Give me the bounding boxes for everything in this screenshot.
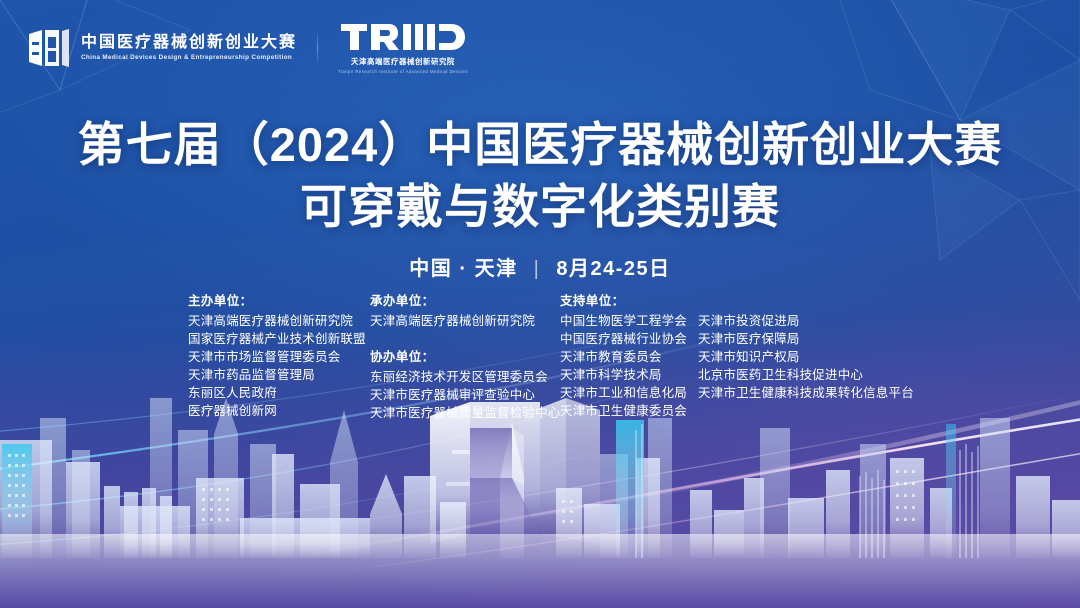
primary-logo-name-en: China Medical Devices Design & Entrepren… xyxy=(81,54,301,62)
supporter-item: 天津市科学技术局 xyxy=(560,366,688,384)
supporter-item: 天津市工业和信息化局 xyxy=(560,384,688,402)
host-item: 天津市药品监督管理局 xyxy=(188,366,370,384)
supporter-item: 天津市教育委员会 xyxy=(560,348,688,366)
coorganizer-item: 天津市医疗器械审评查验中心 xyxy=(370,386,560,404)
host-item: 天津市市场监督管理委员会 xyxy=(188,348,370,366)
host-item: 国家医疗器械产业技术创新联盟 xyxy=(188,330,370,348)
heading-spacer xyxy=(698,292,898,312)
title-line-2: 可穿戴与数字化类别赛 xyxy=(0,176,1080,238)
supporter-item: 中国生物医学工程学会 xyxy=(560,312,688,330)
supporter-item: 天津市卫生健康委员会 xyxy=(560,402,688,420)
host-heading: 主办单位： xyxy=(188,292,370,310)
organizer-item: 天津高端医疗器械创新研究院 xyxy=(370,312,560,330)
supporter-item: 天津市投资促进局 xyxy=(698,312,898,330)
coorganizer-item: 东丽经济技术开发区管理委员会 xyxy=(370,368,560,386)
organizers-section: 主办单位： 天津高端医疗器械创新研究院 国家医疗器械产业技术创新联盟 天津市市场… xyxy=(188,292,898,422)
primary-logo-text: 中国医疗器械创新创业大赛 China Medical Devices Desig… xyxy=(81,34,297,62)
coorganizer-heading: 协办单位： xyxy=(370,348,560,366)
supporters-heading: 支持单位： xyxy=(560,292,688,310)
column-gap xyxy=(370,330,560,348)
supporters-column: 支持单位： 中国生物医学工程学会 中国医疗器械行业协会 天津市教育委员会 天津市… xyxy=(560,292,898,420)
open-door-window-logo-icon xyxy=(26,25,72,71)
supporter-item: 天津市卫生健康科技成果转化信息平台 xyxy=(698,384,898,402)
supporter-item: 天津市医疗保障局 xyxy=(698,330,898,348)
supporter-item: 中国医疗器械行业协会 xyxy=(560,330,688,348)
logo-divider xyxy=(317,31,318,65)
supporter-item: 天津市知识产权局 xyxy=(698,348,898,366)
secondary-logo-name-cn: 天津高端医疗器械创新研究院 xyxy=(351,56,455,67)
event-separator: | xyxy=(534,258,541,281)
organizer-heading: 承办单位： xyxy=(370,292,560,310)
secondary-logo: 天津高端医疗器械创新研究院 Tianjin Research Institute… xyxy=(338,22,468,74)
conference-banner: 中国医疗器械创新创业大赛 China Medical Devices Desig… xyxy=(0,0,1080,608)
host-item: 天津高端医疗器械创新研究院 xyxy=(188,312,370,330)
supporters-sub-column-a: 支持单位： 中国生物医学工程学会 中国医疗器械行业协会 天津市教育委员会 天津市… xyxy=(560,292,688,420)
secondary-logo-name-en: Tianjin Research Institute of Advanced M… xyxy=(338,69,468,74)
header-logos: 中国医疗器械创新创业大赛 China Medical Devices Desig… xyxy=(26,22,468,74)
host-column: 主办单位： 天津高端医疗器械创新研究院 国家医疗器械产业技术创新联盟 天津市市场… xyxy=(188,292,370,420)
main-title: 第七届（2024）中国医疗器械创新创业大赛 可穿戴与数字化类别赛 xyxy=(0,114,1080,238)
supporter-item: 北京市医药卫生科技促进中心 xyxy=(698,366,898,384)
organizer-column: 承办单位： 天津高端医疗器械创新研究院 协办单位： 东丽经济技术开发区管理委员会… xyxy=(370,292,560,422)
event-location: 中国 · 天津 xyxy=(409,258,517,280)
title-line-1: 第七届（2024）中国医疗器械创新创业大赛 xyxy=(0,114,1080,176)
event-meta: 中国 · 天津 | 8月24-25日 xyxy=(0,252,1080,281)
primary-logo-name-cn: 中国医疗器械创新创业大赛 xyxy=(81,34,297,51)
host-item: 医疗器械创新网 xyxy=(188,402,370,420)
trmd-wordmark-icon xyxy=(341,22,465,52)
primary-logo: 中国医疗器械创新创业大赛 China Medical Devices Desig… xyxy=(26,25,297,71)
host-item: 东丽区人民政府 xyxy=(188,384,370,402)
coorganizer-item: 天津市医疗器械质量监督检验中心 xyxy=(370,404,560,422)
supporters-sub-column-b: 天津市投资促进局 天津市医疗保障局 天津市知识产权局 北京市医药卫生科技促进中心… xyxy=(698,292,898,420)
event-dates: 8月24-25日 xyxy=(556,258,670,280)
